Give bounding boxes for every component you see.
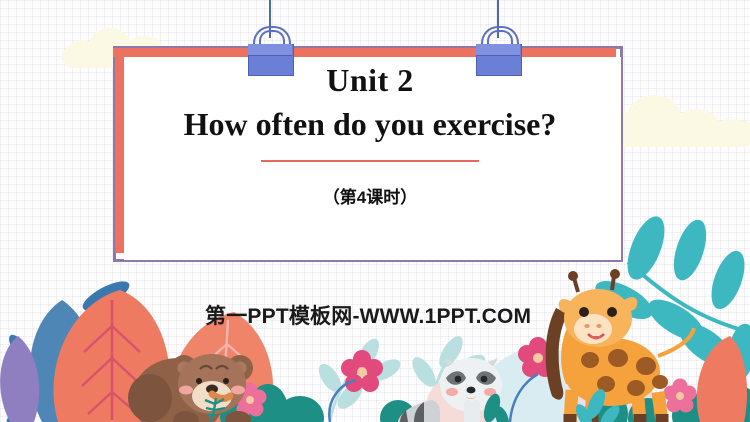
clip-body-top-icon bbox=[476, 44, 520, 56]
card-coral-left-band bbox=[115, 48, 124, 253]
card-coral-top-band bbox=[113, 48, 616, 57]
title-divider-rule bbox=[261, 160, 479, 162]
watermark-text: 第一PPT模板网-WWW.1PPT.COM bbox=[205, 300, 531, 330]
page-title: How often do you exercise? bbox=[125, 104, 615, 144]
period-label: （第4课时） bbox=[125, 183, 615, 208]
unit-label: Unit 2 bbox=[125, 60, 615, 100]
presentation-slide: Unit 2 How often do you exercise? （第4课时）… bbox=[0, 0, 750, 422]
title-block: Unit 2 How often do you exercise? （第4课时） bbox=[125, 60, 615, 208]
clip-body-top-icon bbox=[248, 44, 292, 56]
